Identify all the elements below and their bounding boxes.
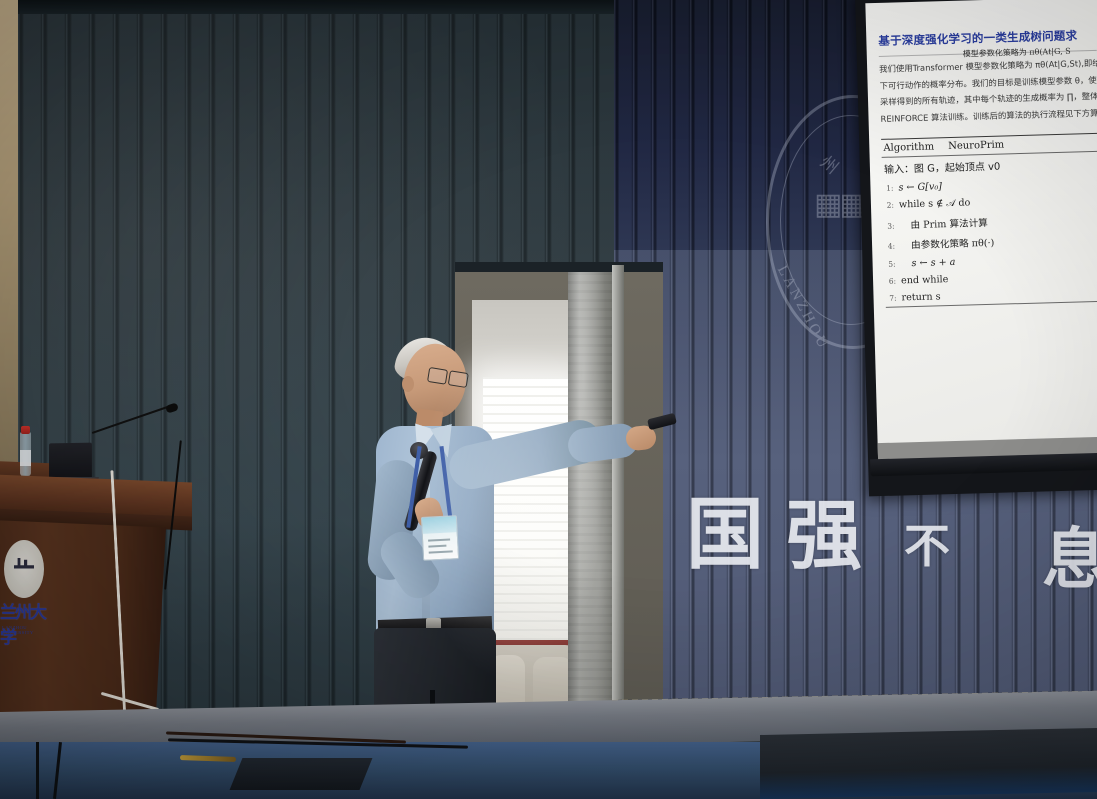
ear xyxy=(402,376,414,392)
slide-paragraph-3: 采样得到的所有轨迹，其中每个轨迹的生成概率为 ∏，整体目标函数可用 xyxy=(880,92,1097,108)
screen-surface: 基于深度强化学习的一类生成树问题求 模型参数化策略为 πθ(At|G, S 我们… xyxy=(865,0,1097,458)
floor-mat xyxy=(230,758,373,790)
name-badge xyxy=(421,515,459,561)
step-text: s ← s + a xyxy=(900,256,955,269)
step-number: 7: xyxy=(887,294,896,303)
step-text: 由参数化策略 πθ(·) xyxy=(900,235,995,252)
laptop-screen[interactable] xyxy=(49,443,92,481)
step-number: 4: xyxy=(886,242,895,251)
step-text: return s xyxy=(901,292,940,304)
step-number: 2: xyxy=(885,201,894,210)
slide-paragraph-2: 下可行动作的概率分布。我们的目标是训练模型参数 θ，使得生成树的期望 xyxy=(880,75,1097,91)
slide-content: 基于深度强化学习的一类生成树问题求 模型参数化策略为 πθ(At|G, S 我们… xyxy=(865,0,1097,458)
step-text: end while xyxy=(901,274,949,286)
algorithm-input-value: 图 G，起始顶点 v0 xyxy=(914,161,1001,174)
bottle-cap xyxy=(21,426,30,434)
podium-university-name-cn: 兰州大学 xyxy=(0,598,46,628)
step-text: 由 Prim 算法计算 xyxy=(899,215,988,231)
slide-body: 我们使用Transformer 模型参数化策略为 πθ(At|G,St),即给定… xyxy=(879,59,1097,125)
floor-shadow-area xyxy=(760,728,1097,799)
algorithm-name: NeuroPrim xyxy=(948,139,1004,152)
algorithm-label: Algorithm xyxy=(883,141,934,153)
slide-paragraph-1: 我们使用Transformer 模型参数化策略为 πθ(At|G,St),即给定… xyxy=(879,59,1097,75)
stand-leg xyxy=(36,742,39,799)
step-number: 1: xyxy=(884,184,893,193)
wall-top-trim xyxy=(18,0,663,14)
badge-text-line xyxy=(428,538,450,541)
algorithm-block: Algorithm NeuroPrim 输入：图 G，起始顶点 v0 1: s … xyxy=(881,132,1097,308)
step-number: 6: xyxy=(887,276,896,285)
projection-screen: 基于深度强化学习的一类生成树问题求 模型参数化策略为 πθ(At|G, S 我们… xyxy=(855,0,1097,496)
step-text: while s ∉ 𝒜 do xyxy=(899,198,971,211)
slide-equation: 模型参数化策略为 πθ(At|G, S xyxy=(963,46,1071,60)
badge-text-line xyxy=(429,550,453,553)
badge-text-line xyxy=(428,545,446,548)
podium-university-name-en: LANZHOU UNIVERSITY xyxy=(2,625,46,635)
presentation-photo: ▦▦ 兰 州 LANZHOU 国 强 不 息 基于深度强化学习的一类生成树问题求… xyxy=(0,0,1097,799)
bottle-label xyxy=(20,450,31,466)
slide-paragraph-4: REINFORCE 算法训练。训练后的算法的执行流程见下方算法 1 所示。 xyxy=(880,109,1097,125)
university-seal-icon xyxy=(4,540,44,598)
algorithm-input-label: 输入： xyxy=(884,164,914,176)
step-text: s ← G[v₀] xyxy=(898,181,942,193)
badge-header xyxy=(422,516,457,534)
step-number: 3: xyxy=(885,221,894,230)
step-number: 5: xyxy=(886,259,895,268)
